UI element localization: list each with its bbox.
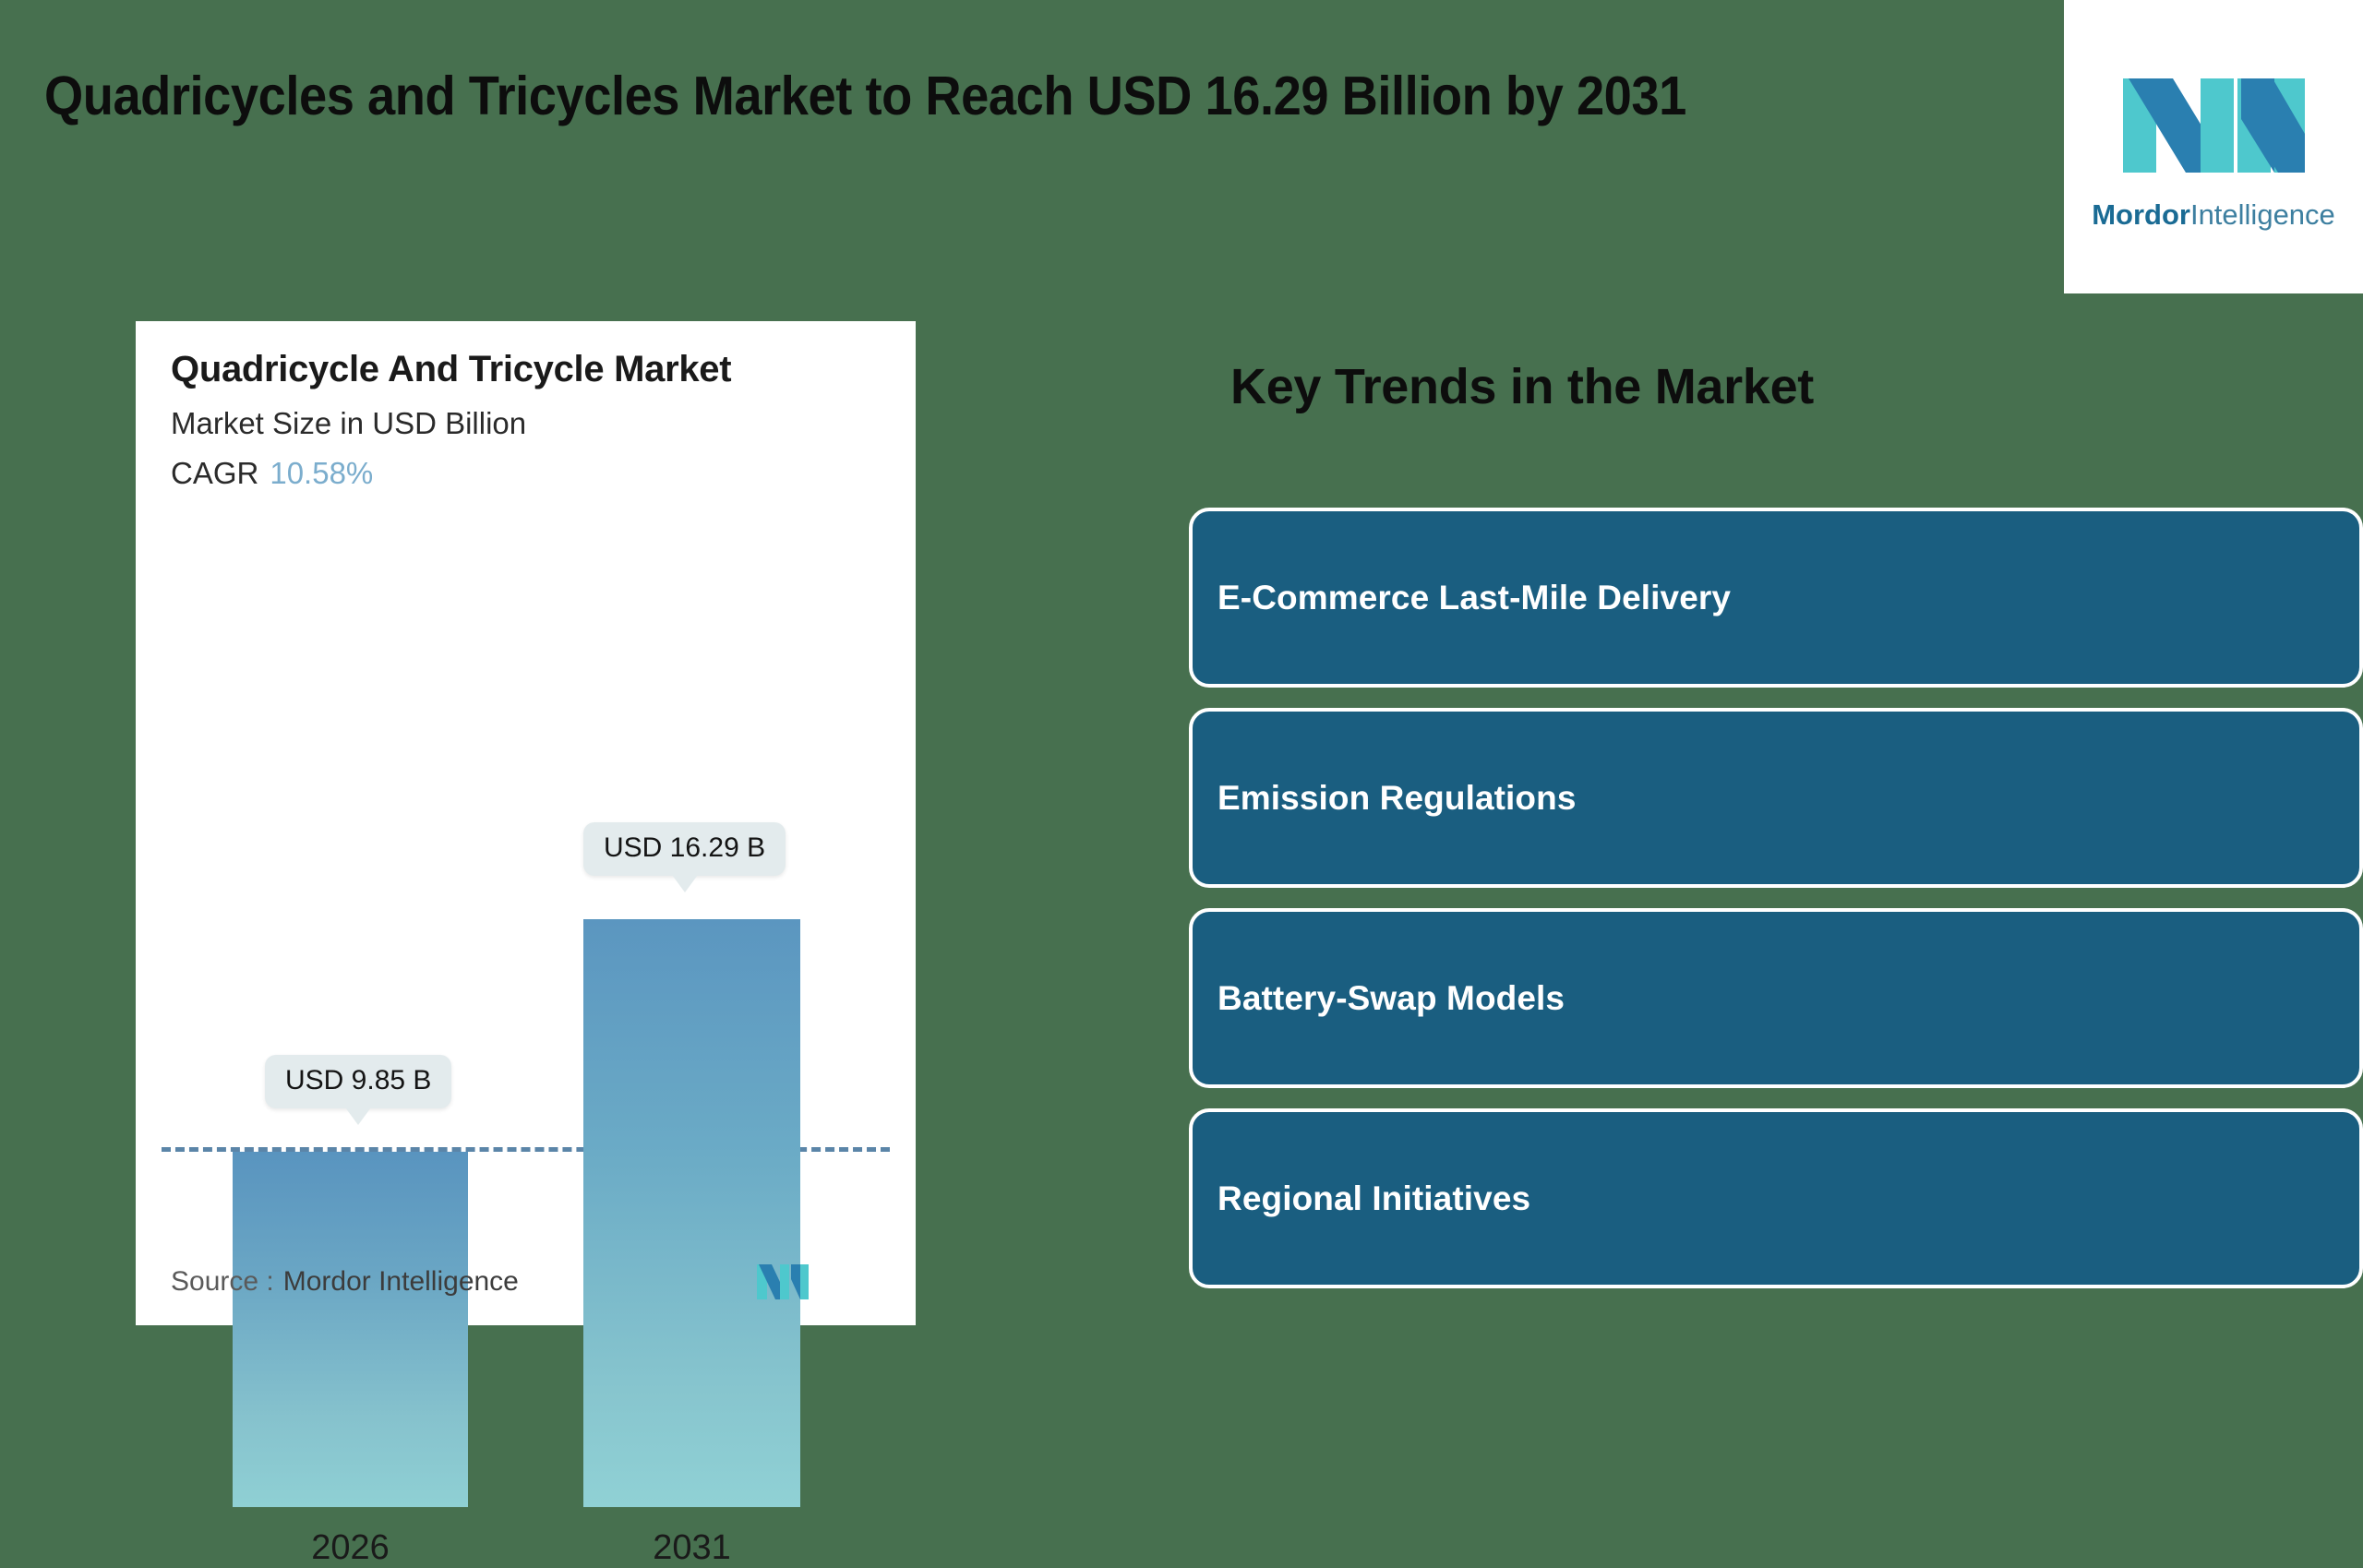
trend-card-regional-initiatives[interactable]: Regional Initiatives [1189, 1108, 2363, 1288]
data-label-2026: USD 9.85 B [265, 1055, 451, 1108]
trend-label: E-Commerce Last-Mile Delivery [1193, 579, 1731, 617]
trend-card-emission-regulations[interactable]: Emission Regulations [1189, 708, 2363, 888]
x-axis-label-2026: 2026 [233, 1528, 468, 1568]
source-row: Source :Mordor Intelligence [171, 1266, 519, 1298]
brand-wordmark: MordorIntelligence [2092, 200, 2335, 229]
trend-label: Battery-Swap Models [1193, 979, 1565, 1018]
trends-heading: Key Trends in the Market [1230, 358, 1814, 415]
cagr-value: 10.58% [270, 456, 373, 490]
trend-list: E-Commerce Last-Mile Delivery Emission R… [1189, 508, 2363, 1288]
trend-label: Emission Regulations [1193, 779, 1577, 818]
chart-subtitle: Market Size in USD Billion [171, 406, 526, 441]
page-title: Quadricycles and Tricycles Market to Rea… [44, 65, 1811, 127]
brand-logo-box: MordorIntelligence [2064, 0, 2363, 293]
cagr-label: CAGR [171, 456, 258, 490]
trend-card-e-commerce-last-mile-delivery[interactable]: E-Commerce Last-Mile Delivery [1189, 508, 2363, 688]
trend-card-battery-swap-models[interactable]: Battery-Swap Models [1189, 908, 2363, 1088]
mordor-intelligence-logo-icon [2119, 66, 2309, 186]
x-axis-label-2031: 2031 [583, 1528, 800, 1568]
trend-label: Regional Initiatives [1193, 1179, 1530, 1218]
source-value: Mordor Intelligence [283, 1266, 519, 1297]
source-label: Source : [171, 1266, 274, 1297]
bar-chart-plot: USD 9.85 B USD 16.29 B 2026 2031 [136, 533, 916, 1507]
data-label-2031: USD 16.29 B [583, 822, 786, 876]
brand-name-light: Intelligence [2190, 198, 2335, 231]
chart-card: Quadricycle And Tricycle Market Market S… [136, 321, 916, 1325]
cagr-row: CAGR10.58% [171, 456, 373, 491]
mordor-intelligence-mark-icon [756, 1261, 810, 1303]
bar-2031 [583, 919, 800, 1507]
brand-name-bold: Mordor [2092, 198, 2190, 231]
chart-title: Quadricycle And Tricycle Market [171, 349, 731, 390]
bar-2026 [233, 1152, 468, 1507]
